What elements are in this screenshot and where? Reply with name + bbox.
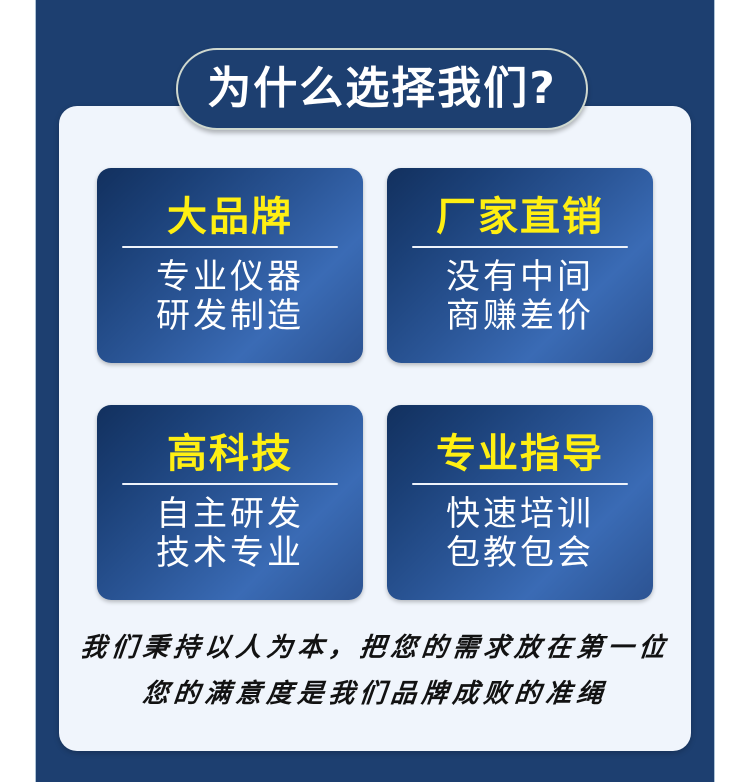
card-headline: 专业指导 — [436, 433, 604, 475]
card-headline: 高科技 — [167, 433, 293, 475]
page-title-pill: 为什么选择我们? — [176, 48, 588, 130]
card-subline: 包教包会 — [446, 534, 594, 573]
feature-card[interactable]: 专业指导 快速培训 包教包会 — [387, 405, 653, 600]
feature-card[interactable]: 高科技 自主研发 技术专业 — [97, 405, 363, 600]
card-subline: 研发制造 — [156, 297, 304, 336]
card-divider — [122, 483, 338, 485]
card-divider — [122, 246, 338, 248]
feature-card-grid: 大品牌 专业仪器 研发制造 厂家直销 没有中间 商赚差价 高科技 自主研发 技术… — [97, 168, 653, 600]
slogan-line: 我们秉持以人为本，把您的需求放在第一位 — [57, 626, 694, 672]
card-subline: 没有中间 — [446, 258, 594, 297]
feature-card[interactable]: 厂家直销 没有中间 商赚差价 — [387, 168, 653, 363]
card-headline: 大品牌 — [167, 196, 293, 238]
slogan-block: 我们秉持以人为本，把您的需求放在第一位 您的满意度是我们品牌成败的准绳 — [59, 626, 691, 717]
feature-card[interactable]: 大品牌 专业仪器 研发制造 — [97, 168, 363, 363]
page-title: 为什么选择我们? — [207, 67, 557, 111]
card-subline: 自主研发 — [156, 495, 304, 534]
card-subline: 技术专业 — [156, 534, 304, 573]
card-divider — [412, 246, 628, 248]
card-subline: 商赚差价 — [446, 297, 594, 336]
content-panel: 大品牌 专业仪器 研发制造 厂家直销 没有中间 商赚差价 高科技 自主研发 技术… — [59, 106, 691, 751]
card-divider — [412, 483, 628, 485]
banner-stage: 大品牌 专业仪器 研发制造 厂家直销 没有中间 商赚差价 高科技 自主研发 技术… — [0, 0, 750, 782]
card-subline: 快速培训 — [446, 495, 594, 534]
card-headline: 厂家直销 — [436, 196, 604, 238]
card-subline: 专业仪器 — [156, 258, 304, 297]
slogan-line: 您的满意度是我们品牌成败的准绳 — [57, 672, 694, 718]
